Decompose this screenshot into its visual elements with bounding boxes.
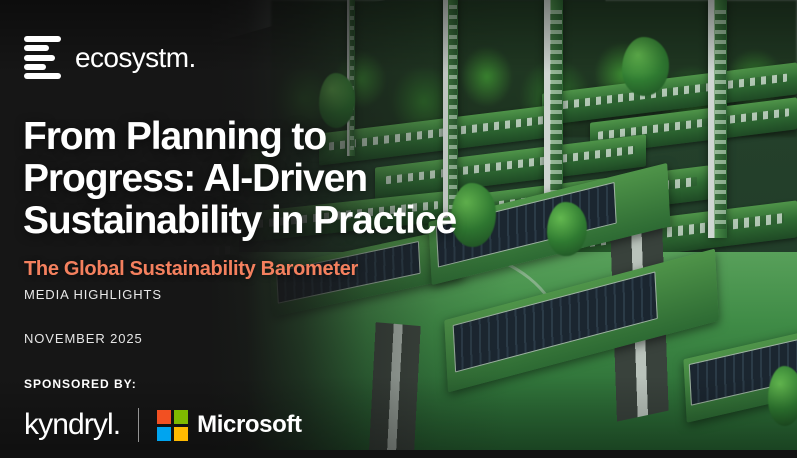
report-cover-slide: ecosystm. From Planning to Progress: AI-…: [0, 0, 797, 458]
microsoft-squares-icon: [157, 410, 188, 441]
sponsored-by-label: SPONSORED BY:: [24, 377, 137, 391]
kyndryl-logo[interactable]: kyndryl.: [24, 410, 120, 440]
ecosystm-bars-icon: [24, 36, 61, 79]
sponsor-divider: [138, 408, 139, 442]
microsoft-logo[interactable]: Microsoft: [157, 410, 301, 441]
ecosystm-wordmark: ecosystm.: [75, 42, 196, 74]
sponsor-logos: kyndryl. Microsoft: [24, 408, 302, 442]
publication-date: NOVEMBER 2025: [24, 331, 143, 346]
report-kicker: MEDIA HIGHLIGHTS: [24, 287, 162, 302]
microsoft-wordmark: Microsoft: [197, 411, 301, 439]
page-title: From Planning to Progress: AI-Driven Sus…: [23, 116, 493, 242]
report-subtitle: The Global Sustainability Barometer: [24, 258, 358, 281]
ms-square-yellow: [174, 427, 188, 441]
ms-square-blue: [157, 427, 171, 441]
cover-content: ecosystm. From Planning to Progress: AI-…: [0, 0, 797, 458]
bottom-edge-bar: [0, 450, 797, 458]
ecosystm-logo[interactable]: ecosystm.: [24, 36, 196, 79]
ms-square-green: [174, 410, 188, 424]
ms-square-red: [157, 410, 171, 424]
